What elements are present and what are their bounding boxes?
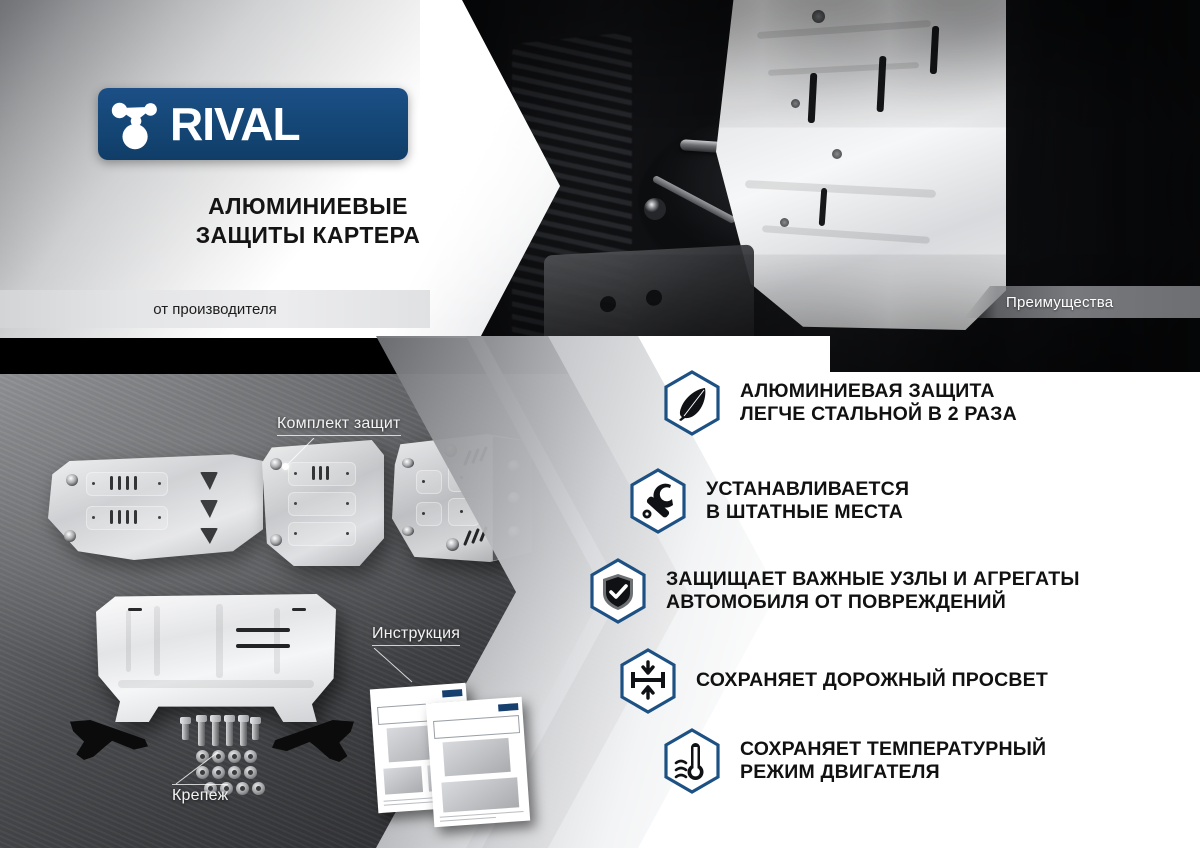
feather-icon [662, 370, 722, 436]
page-title-line1: АЛЮМИНИЕВЫЕ [98, 192, 518, 221]
callout-instruction-label: Инструкция [372, 625, 460, 642]
rival-logo: RIVAL [98, 88, 408, 160]
callout-instruction-rule [372, 645, 460, 646]
advantage-text-clearance: СОХРАНЯЕТ ДОРОЖНЫЙ ПРОСВЕТ [696, 669, 1048, 692]
callout-instruction: Инструкция [372, 625, 460, 646]
poster-canvas: Преимущества RIVAL АЛЮМИНИЕВЫЕ ЗАЩИТЫ КА… [0, 0, 1200, 848]
wrench-icon [628, 468, 688, 534]
advantage-item-fitment: УСТАНАВЛИВАЕТСЯ В ШТАТНЫЕ МЕСТА [628, 468, 909, 534]
mounting-bracket-left [70, 720, 148, 760]
skid-plate-right [392, 434, 532, 562]
callout-kit-rule [277, 435, 401, 436]
subtitle-band: от производителя [0, 290, 430, 328]
callout-fasteners-label: Крепеж [172, 787, 228, 804]
skid-plate-front [96, 594, 336, 722]
rival-logo-wordmark: RIVAL [170, 97, 300, 151]
advantages-ribbon-label: Преимущества [1006, 294, 1113, 311]
advantage-text-temperature: СОХРАНЯЕТ ТЕМПЕРАТУРНЫЙ РЕЖИМ ДВИГАТЕЛЯ [740, 738, 1046, 785]
callout-kit: Комплект защит [277, 415, 401, 436]
advantage-text-weight: АЛЮМИНИЕВАЯ ЗАЩИТА ЛЕГЧЕ СТАЛЬНОЙ В 2 РА… [740, 380, 1017, 427]
advantage-item-temperature: СОХРАНЯЕТ ТЕМПЕРАТУРНЫЙ РЕЖИМ ДВИГАТЕЛЯ [662, 728, 1046, 794]
callout-fasteners: Крепеж [172, 784, 228, 805]
molecule-icon [106, 93, 168, 155]
instruction-sheet-front [426, 697, 530, 827]
callout-fasteners-leader [172, 752, 220, 786]
page-title: АЛЮМИНИЕВЫЕ ЗАЩИТЫ КАРТЕРА [98, 192, 518, 249]
ground-clearance-icon [618, 648, 678, 714]
thermometer-icon [662, 728, 722, 794]
callout-kit-label: Комплект защит [277, 415, 401, 432]
mounting-bracket-right [272, 720, 354, 762]
shield-check-icon [588, 558, 648, 624]
advantage-item-clearance: СОХРАНЯЕТ ДОРОЖНЫЙ ПРОСВЕТ [618, 648, 1048, 714]
advantages-list: АЛЮМИНИЕВАЯ ЗАЩИТА ЛЕГЧЕ СТАЛЬНОЙ В 2 РА… [600, 336, 1200, 848]
skid-plate-left [48, 450, 263, 560]
advantage-item-protection: ЗАЩИЩАЕТ ВАЖНЫЕ УЗЛЫ И АГРЕГАТЫ АВТОМОБИ… [588, 558, 1080, 624]
callout-kit-anchor [282, 463, 289, 470]
advantage-item-weight: АЛЮМИНИЕВАЯ ЗАЩИТА ЛЕГЧЕ СТАЛЬНОЙ В 2 РА… [662, 370, 1017, 436]
black-divider-bar [0, 338, 660, 374]
page-subtitle: от производителя [153, 301, 276, 318]
advantages-ribbon: Преимущества [964, 286, 1200, 318]
advantage-text-fitment: УСТАНАВЛИВАЕТСЯ В ШТАТНЫЕ МЕСТА [706, 478, 909, 525]
callout-instruction-leader [372, 648, 416, 686]
page-title-line2: ЗАЩИТЫ КАРТЕРА [98, 221, 518, 250]
advantage-text-protection: ЗАЩИЩАЕТ ВАЖНЫЕ УЗЛЫ И АГРЕГАТЫ АВТОМОБИ… [666, 568, 1080, 615]
